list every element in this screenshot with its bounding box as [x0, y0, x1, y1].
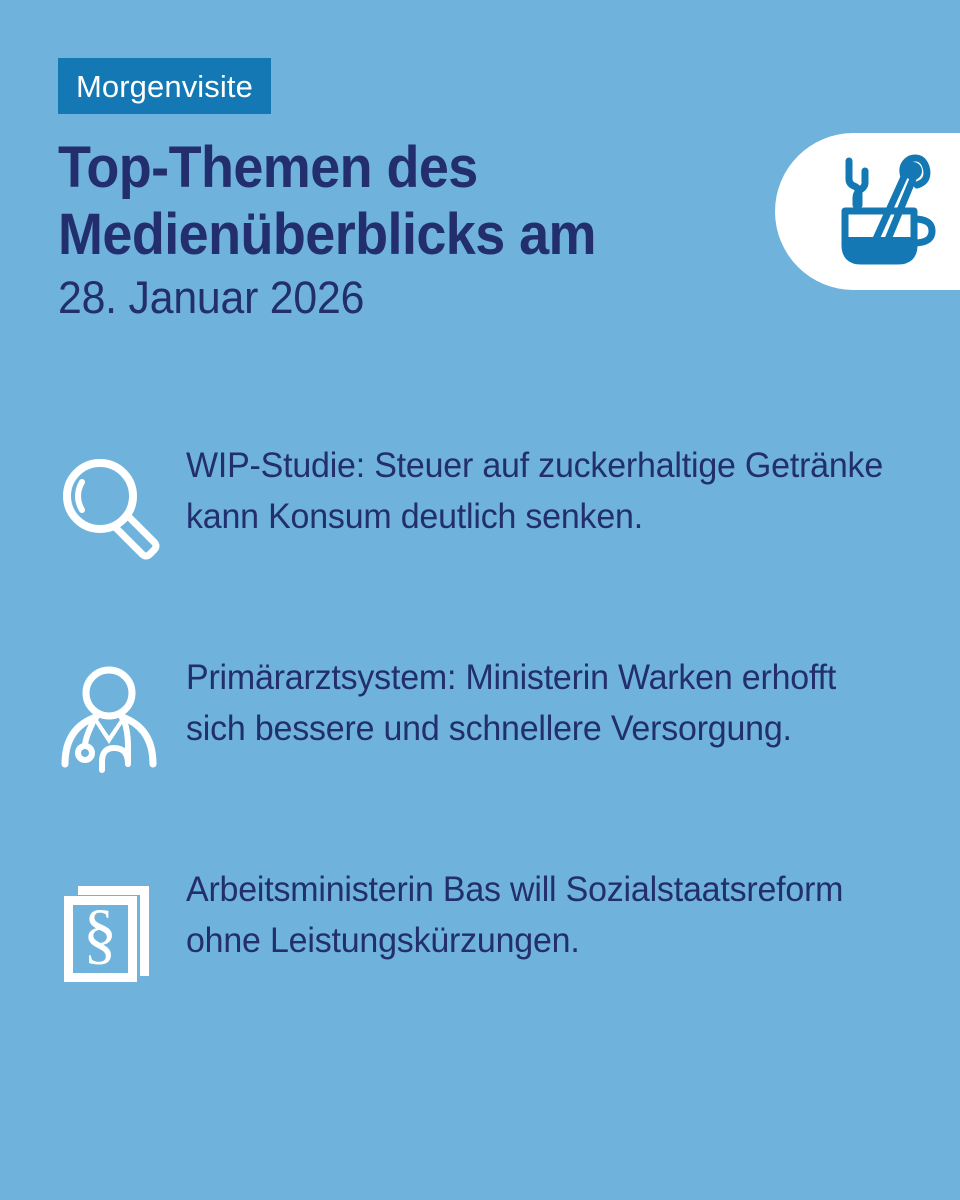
list-item-text: WIP-Studie: Steuer auf zuckerhaltige Get… — [186, 440, 894, 542]
doctor-stethoscope-icon — [52, 660, 168, 776]
page-date: 28. Januar 2026 — [58, 273, 723, 323]
social-media-card: Morgenvisite Top-Themen des Medienüberbl… — [0, 0, 960, 1200]
brand-pill — [775, 133, 960, 290]
magnifier-icon — [52, 448, 168, 564]
list-item: § Arbeitsministerin Bas will Sozialstaat… — [0, 864, 960, 1014]
title-block: Top-Themen des Medienüberblicks am 28. J… — [58, 134, 758, 323]
kicker-label: Morgenvisite — [76, 71, 253, 102]
list-item: Primärarztsystem: Ministerin Warken erho… — [0, 652, 960, 802]
card-header: Morgenvisite Top-Themen des Medienüberbl… — [0, 0, 960, 370]
page-title: Top-Themen des Medienüberblicks am — [58, 134, 709, 269]
list-item-text: Arbeitsministerin Bas will Sozialstaatsr… — [186, 864, 894, 966]
topics-list: WIP-Studie: Steuer auf zuckerhaltige Get… — [0, 440, 960, 1014]
kicker-badge: Morgenvisite — [58, 58, 271, 114]
svg-text:§: § — [83, 895, 117, 971]
list-item-text: Primärarztsystem: Ministerin Warken erho… — [186, 652, 894, 754]
paragraph-documents-icon: § — [52, 872, 168, 988]
list-item: WIP-Studie: Steuer auf zuckerhaltige Get… — [0, 440, 960, 590]
